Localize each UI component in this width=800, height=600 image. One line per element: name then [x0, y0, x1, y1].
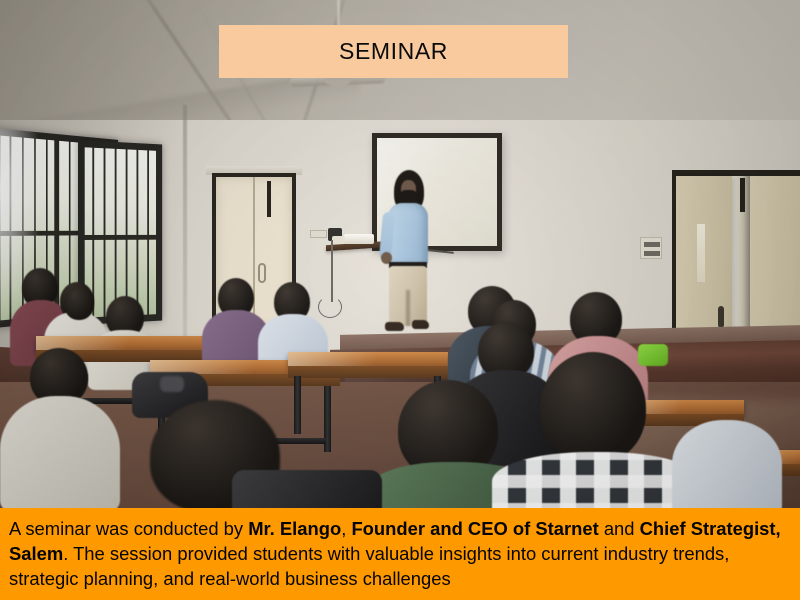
- window-mullion-horizontal: [85, 235, 156, 240]
- window-glass: [85, 147, 156, 317]
- caption-emphasis: Mr. Elango: [248, 518, 341, 539]
- student-torso: [492, 452, 702, 516]
- window-grille-bar: [92, 148, 94, 318]
- hanging-cable: [331, 240, 333, 302]
- wall-switchboard: [640, 237, 662, 259]
- center-door-bolt: [267, 181, 271, 217]
- window-grille-bar: [126, 149, 128, 315]
- caption-plain: . The session provided students with val…: [9, 543, 729, 589]
- student-torso: [672, 420, 782, 516]
- page-title: SEMINAR: [339, 38, 448, 65]
- window-grille-bar: [104, 148, 106, 316]
- caption-plain: ,: [341, 518, 351, 539]
- title-banner: SEMINAR: [219, 25, 568, 78]
- window-grille-bar: [115, 149, 117, 316]
- window-grille-bar: [137, 150, 139, 315]
- right-door-vent-slot: [697, 224, 705, 282]
- student-head: [64, 286, 94, 320]
- wall-switch-plate-small: [310, 230, 327, 238]
- window-grille-bar: [10, 136, 12, 319]
- caption-plain: and: [599, 518, 640, 539]
- desk-leg: [294, 376, 301, 434]
- student-head: [540, 352, 646, 464]
- student-torso: [0, 396, 120, 512]
- caption-emphasis: Founder and CEO of Starnet: [351, 518, 598, 539]
- speaker-shoe-left: [385, 322, 404, 331]
- caption-plain: A seminar was conducted by: [9, 518, 248, 539]
- right-door-bolt: [740, 178, 745, 212]
- desk-apron: [288, 366, 448, 378]
- shelf-object-paper: [344, 234, 374, 244]
- seminar-slide: SEMINAR A seminar was conducted by Mr. E…: [0, 0, 800, 600]
- speaker-shoe-right: [412, 320, 429, 329]
- window-grille-bar: [147, 150, 149, 314]
- switch-row: [644, 251, 660, 256]
- right-door-handle: [718, 306, 724, 328]
- shelf-object-box: [332, 236, 345, 244]
- green-object-on-chair: [638, 344, 668, 366]
- speaker-shirt: [388, 203, 428, 265]
- caption-banner: A seminar was conducted by Mr. Elango, F…: [0, 508, 800, 600]
- switch-row: [644, 242, 660, 247]
- center-door-handle: [258, 263, 266, 283]
- caption-text: A seminar was conducted by Mr. Elango, F…: [9, 516, 791, 591]
- speaker-leg-gap: [406, 290, 410, 326]
- backpack-pocket: [160, 376, 184, 392]
- hanging-cable-loop: [318, 296, 342, 318]
